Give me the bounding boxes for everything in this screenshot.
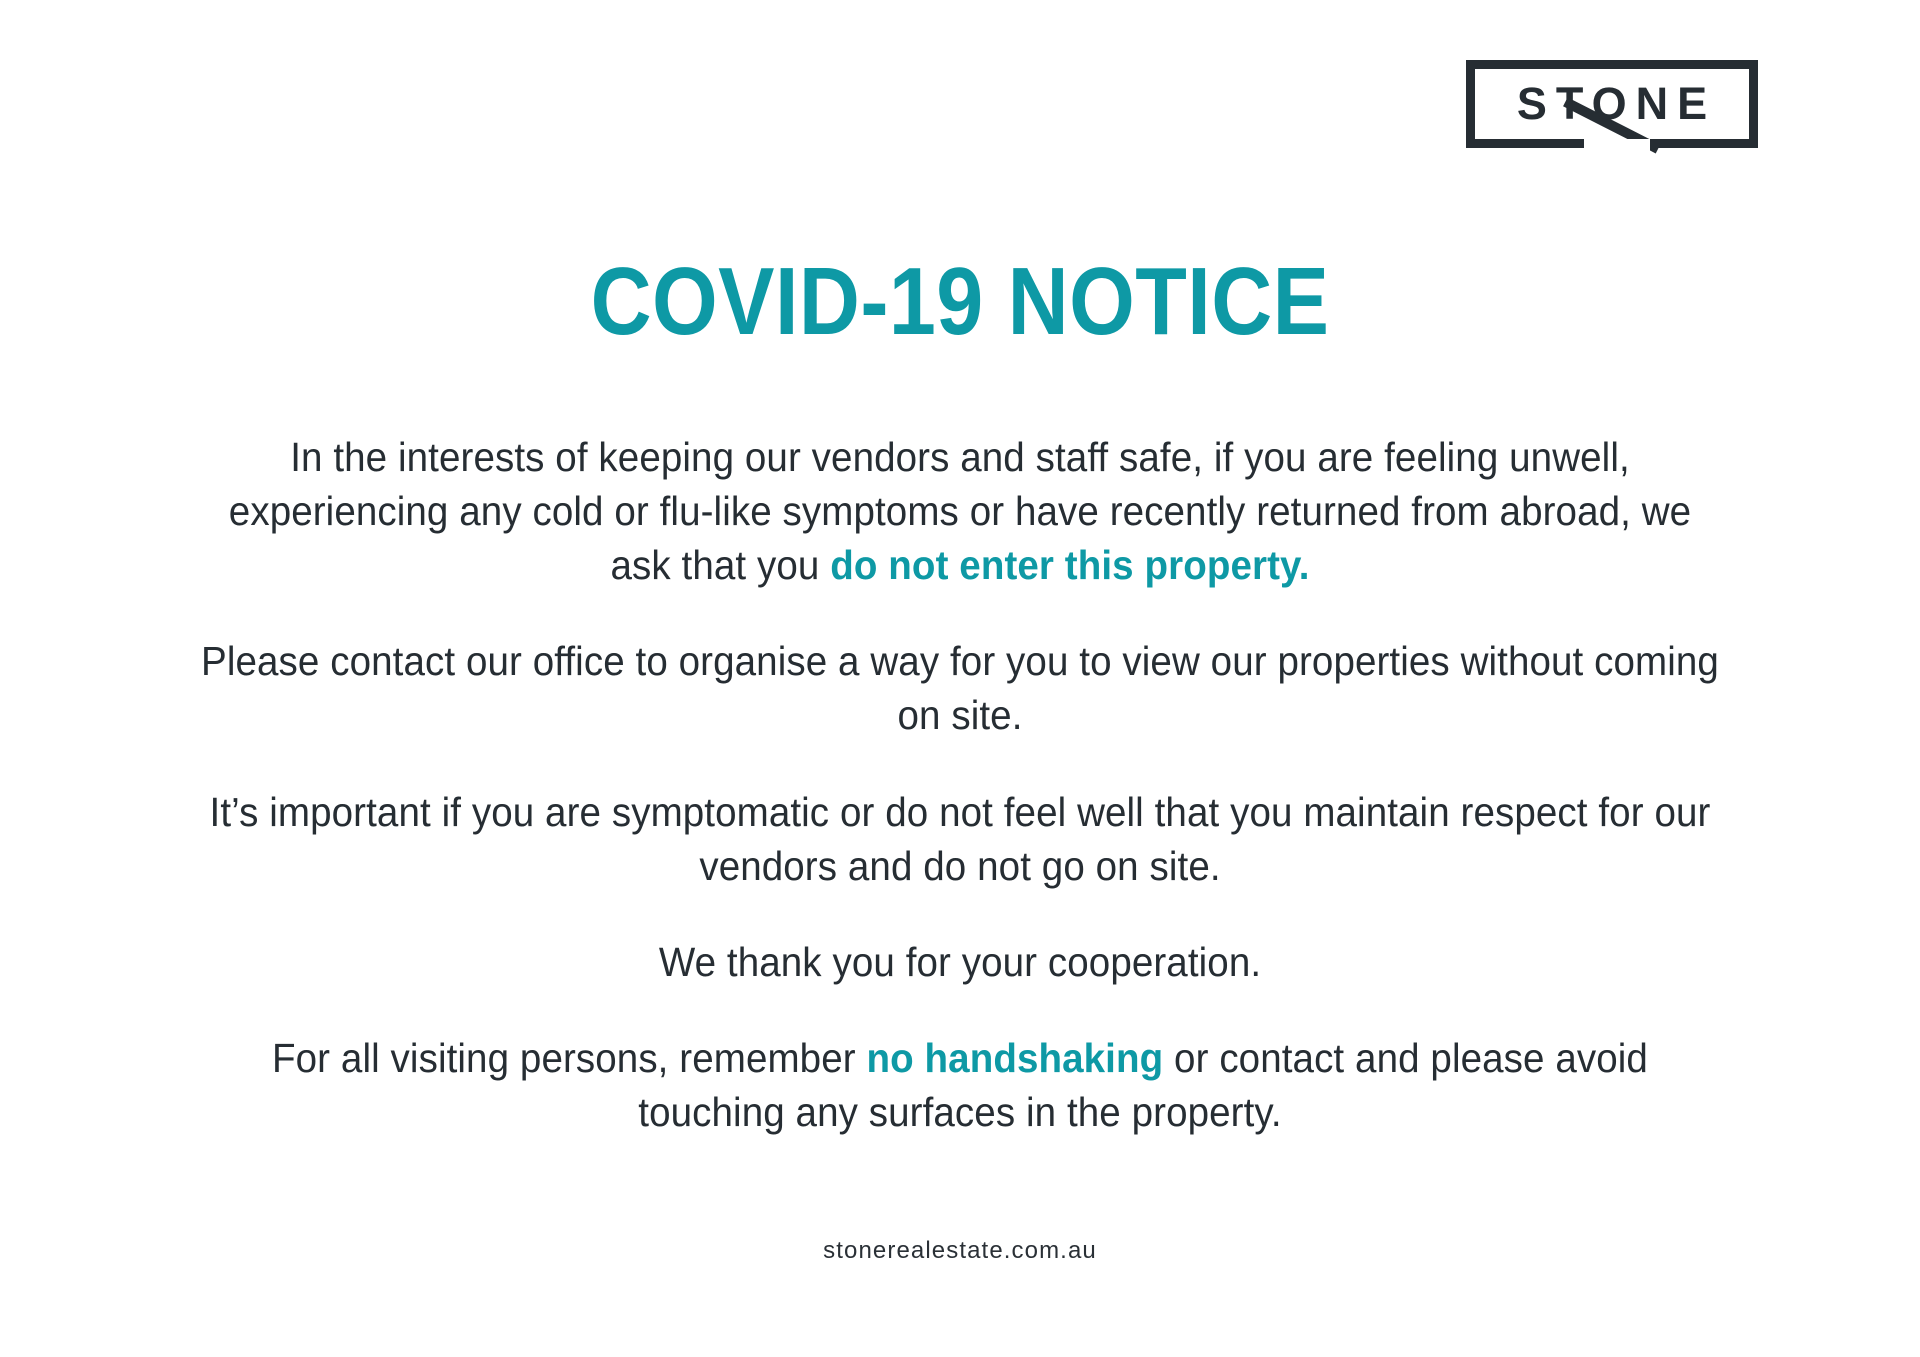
notice-paragraph: In the interests of keeping our vendors … [199,430,1722,592]
body-text-run: It’s important if you are symptomatic or… [210,789,1711,889]
body-text-run: Please contact our office to organise a … [201,638,1719,738]
notice-paragraph: Please contact our office to organise a … [199,634,1722,742]
covid-notice-page: STONE COVID-19 NOTICE In the interests o… [0,0,1920,1357]
emphasis-phrase: no handshaking [866,1035,1163,1081]
emphasis-phrase: do not enter this property. [830,542,1309,588]
notice-paragraph: It’s important if you are symptomatic or… [199,785,1722,893]
notice-paragraph: We thank you for your cooperation. [199,935,1722,989]
page-title: COVID-19 NOTICE [115,252,1805,352]
stone-logo: STONE [1466,60,1766,195]
notice-body: In the interests of keeping our vendors … [150,430,1770,1139]
body-text-run: We thank you for your cooperation. [659,939,1261,985]
notice-paragraph: For all visiting persons, remember no ha… [199,1031,1722,1139]
logo-wordmark: STONE [1466,60,1758,148]
body-text-run: For all visiting persons, remember [272,1035,866,1081]
footer-website-url[interactable]: stonerealestate.com.au [0,1237,1920,1265]
